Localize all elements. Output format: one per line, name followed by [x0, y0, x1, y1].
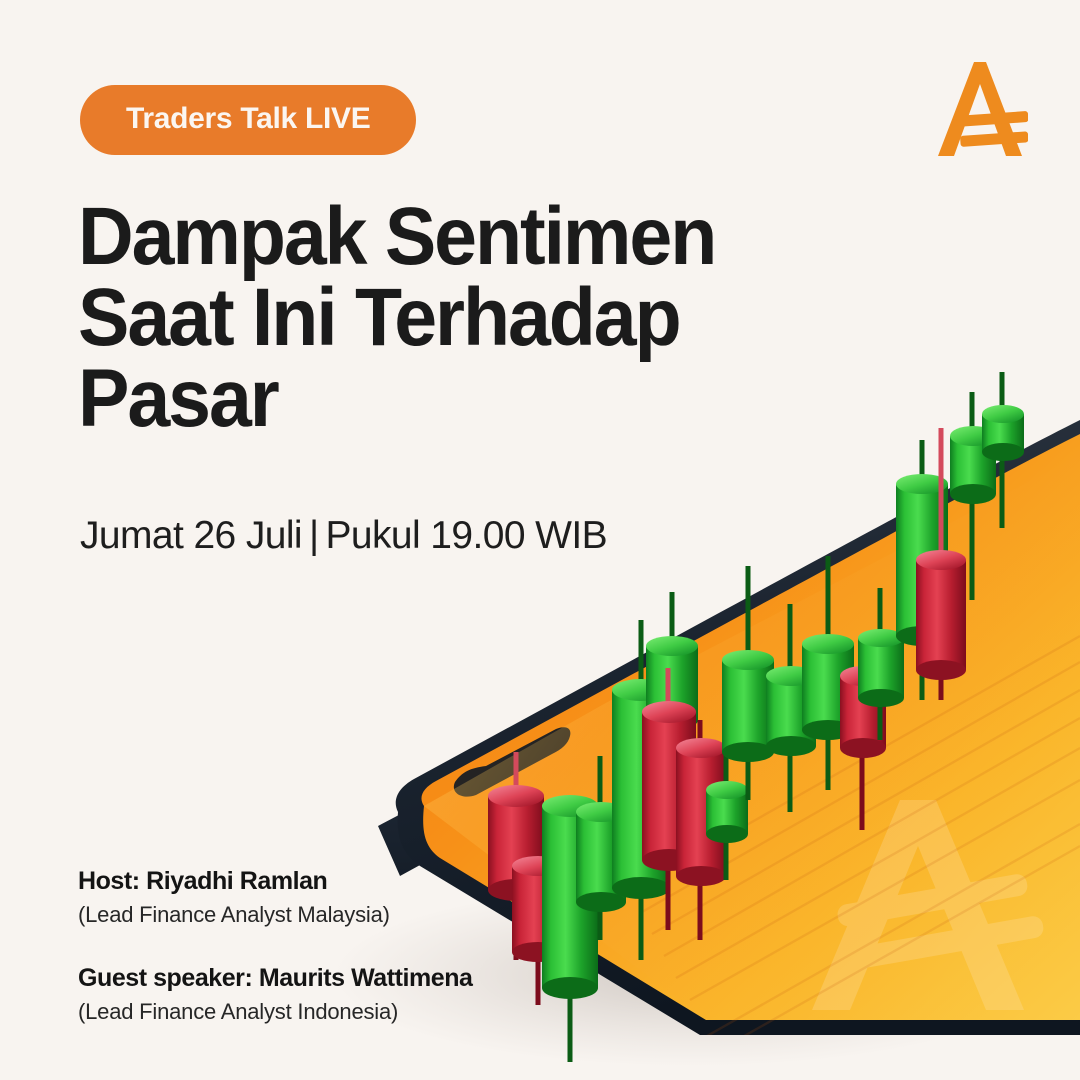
logo-crossbar-lower [960, 131, 1028, 147]
promo-poster: Traders Talk LIVE Dampak Sentimen Saat I… [0, 0, 1080, 1080]
poster-top-layer [0, 0, 1080, 1080]
ascendex-a-logo [936, 56, 1028, 162]
